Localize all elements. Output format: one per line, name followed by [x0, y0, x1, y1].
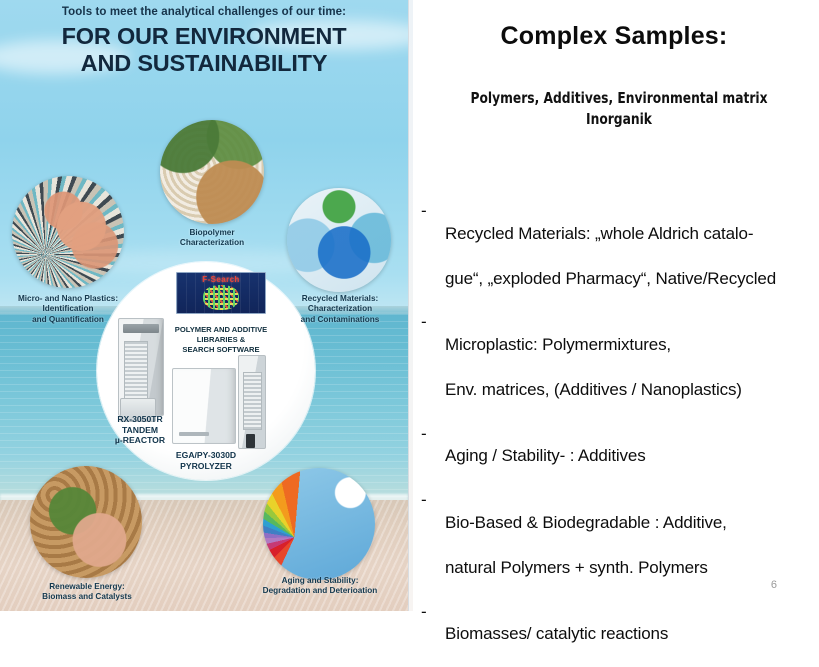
bullet-line1: Aging / Stability- : Additives — [445, 446, 646, 465]
bullet-line2: gue“, „exploded Pharmacy“, Native/Recycl… — [445, 269, 776, 288]
bullet-marker: - — [415, 423, 445, 446]
software-caption: POLYMER AND ADDITIVE LIBRARIES & SEARCH … — [160, 325, 282, 355]
bullet-line2: natural Polymers + synth. Polymers — [445, 558, 708, 577]
biopolymer-caption: Biopolymer Characterization — [155, 228, 269, 249]
microplastics-caption: Micro- and Nano Plastics: Identification… — [6, 294, 130, 325]
bullet-marker: - — [415, 200, 445, 223]
poster-title-line1: FOR OUR ENVIRONMENT — [0, 23, 408, 50]
list-item: - Aging / Stability- : Additives — [415, 423, 815, 468]
bullet-text: Aging / Stability- : Additives — [445, 423, 815, 468]
bullet-line1: Biomasses/ catalytic reactions — [445, 624, 668, 643]
f-search-dot-matrix — [203, 285, 239, 310]
biopolymer-photo — [160, 120, 264, 224]
page-subtitle-line2: Inorganik — [455, 109, 782, 130]
page-title: Complex Samples: — [409, 22, 819, 51]
bullet-line1: Recycled Materials: „whole Aldrich catal… — [445, 224, 753, 243]
bullet-list: - Recycled Materials: „whole Aldrich cat… — [415, 200, 815, 667]
slide: Tools to meet the analytical challenges … — [0, 0, 819, 611]
page-subtitle-line1: Polymers, Additives, Environmental matri… — [455, 88, 782, 109]
bullet-text: Biomasses/ catalytic reactions — [445, 601, 815, 646]
renewable-energy-photo — [30, 466, 142, 578]
pyrolyzer-instrument — [172, 368, 236, 444]
list-item: - Bio-Based & Biodegradable : Additive, … — [415, 489, 815, 579]
bullet-line2: Env. matrices, (Additives / Nanoplastics… — [445, 380, 742, 399]
list-item: - Microplastic: Polymermixtures, Env. ma… — [415, 311, 815, 401]
aging-stability-caption: Aging and Stability: Degradation and Det… — [248, 576, 392, 597]
aging-stability-photo — [263, 468, 375, 580]
poster-kicker: Tools to meet the analytical challenges … — [0, 6, 408, 18]
chip-module — [246, 434, 255, 448]
poster-image: Tools to meet the analytical challenges … — [0, 0, 409, 611]
panel-edge-rail — [409, 0, 413, 611]
list-item: - Biomasses/ catalytic reactions — [415, 601, 815, 646]
bullet-marker: - — [415, 311, 445, 334]
bullet-text: Bio-Based & Biodegradable : Additive, na… — [445, 489, 815, 579]
bullet-line1: Bio-Based & Biodegradable : Additive, — [445, 513, 727, 532]
page-number: 6 — [771, 579, 777, 591]
poster-title-line2: AND SUSTAINABILITY — [0, 50, 408, 77]
recycled-materials-caption: Recycled Materials: Characterization and… — [281, 294, 399, 325]
f-search-title: F-Search — [177, 275, 265, 284]
bullet-text: Microplastic: Polymermixtures, Env. matr… — [445, 311, 815, 401]
renewable-energy-caption: Renewable Energy: Biomass and Catalysts — [24, 582, 150, 603]
reactor-caption: RX-3050TR TANDEM µ-REACTOR — [100, 414, 180, 446]
pyrolyzer-caption: EGA/PY-3030D PYROLYZER — [150, 450, 262, 471]
bullet-text: Recycled Materials: „whole Aldrich catal… — [445, 200, 815, 290]
poster-header: Tools to meet the analytical challenges … — [0, 6, 408, 78]
bullet-marker: - — [415, 489, 445, 512]
list-item: - Recycled Materials: „whole Aldrich cat… — [415, 200, 815, 290]
poster-title: FOR OUR ENVIRONMENT AND SUSTAINABILITY — [0, 23, 408, 78]
bullet-marker: - — [415, 601, 445, 624]
bullet-line1: Microplastic: Polymermixtures, — [445, 335, 671, 354]
f-search-software-screen: F-Search — [176, 272, 266, 314]
recycled-materials-photo — [287, 188, 391, 292]
microplastics-photo — [12, 176, 124, 288]
page-subtitle: Polymers, Additives, Environmental matri… — [455, 88, 782, 129]
content-panel: Complex Samples: Polymers, Additives, En… — [409, 0, 819, 611]
